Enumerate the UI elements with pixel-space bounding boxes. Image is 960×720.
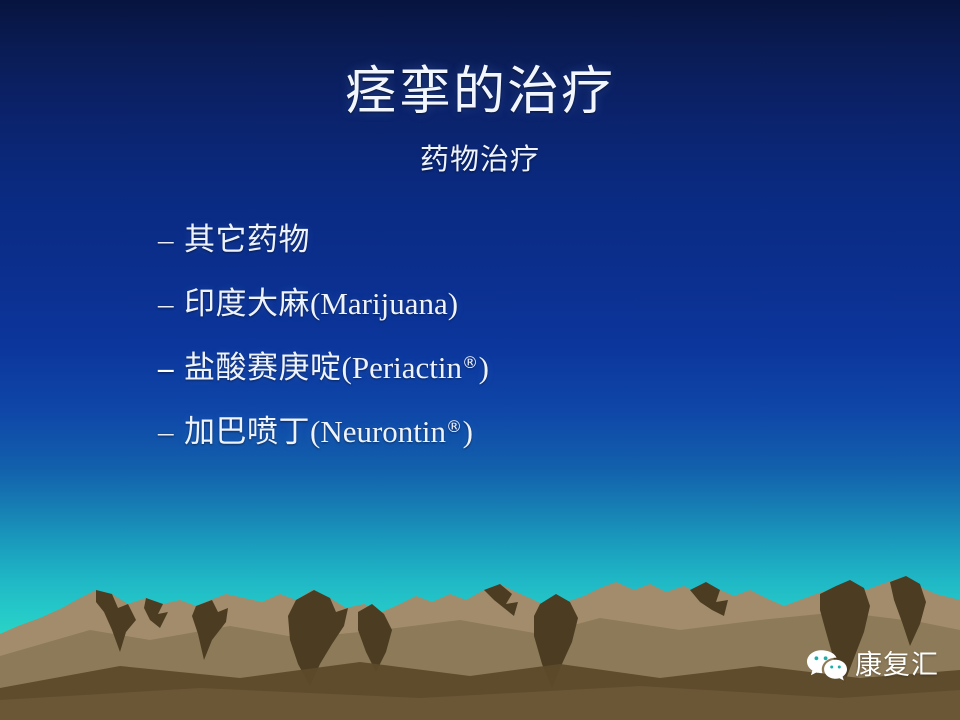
watermark-label: 康复汇 <box>855 652 939 679</box>
bullet-item-3: – 盐酸赛庚啶(Periactin®) <box>158 342 858 406</box>
slide-subtitle: 药物治疗 <box>0 136 960 178</box>
bullet-text-4-latin: (Neurontin <box>310 414 446 449</box>
bullet-text-3-zh: 盐酸赛庚啶 <box>184 350 342 386</box>
bullet-text-1-zh: 其它药物 <box>184 222 310 258</box>
mountain-range-illustration <box>0 560 960 720</box>
slide-title: 痉挛的治疗 <box>0 63 960 123</box>
bullet-dash-icon: – <box>158 350 184 386</box>
presentation-slide: 痉挛的治疗 药物治疗 – 其它药物 – 印度大麻(Marijuana) – 盐酸… <box>0 0 960 720</box>
bullet-text-2-zh: 印度大麻 <box>184 286 310 322</box>
bullet-text-4-zh: 加巴喷丁 <box>184 414 310 450</box>
bullet-text-3: 盐酸赛庚啶(Periactin®) <box>184 342 489 387</box>
wechat-icon <box>806 648 848 682</box>
bullet-dash-icon: – <box>158 286 184 322</box>
bullet-text-3-close: ) <box>479 350 489 385</box>
bullet-item-1: – 其它药物 <box>158 214 858 278</box>
bullet-item-4: – 加巴喷丁(Neurontin®) <box>158 406 858 470</box>
bullet-text-2-latin: (Marijuana) <box>310 286 458 321</box>
bullet-list: – 其它药物 – 印度大麻(Marijuana) – 盐酸赛庚啶(Periact… <box>158 214 858 470</box>
bullet-item-2: – 印度大麻(Marijuana) <box>158 278 858 342</box>
bullet-text-3-latin: (Periactin <box>342 350 463 385</box>
bullet-text-2: 印度大麻(Marijuana) <box>184 278 458 323</box>
bullet-text-4-close: ) <box>463 414 473 449</box>
bullet-dash-icon: – <box>158 222 184 258</box>
bullet-text-1: 其它药物 <box>184 214 310 259</box>
bullet-dash-icon: – <box>158 414 184 450</box>
watermark: 康复汇 <box>806 648 939 682</box>
bullet-text-3-reg: ® <box>462 353 479 372</box>
bullet-text-4: 加巴喷丁(Neurontin®) <box>184 406 473 451</box>
bullet-text-4-reg: ® <box>446 417 463 436</box>
